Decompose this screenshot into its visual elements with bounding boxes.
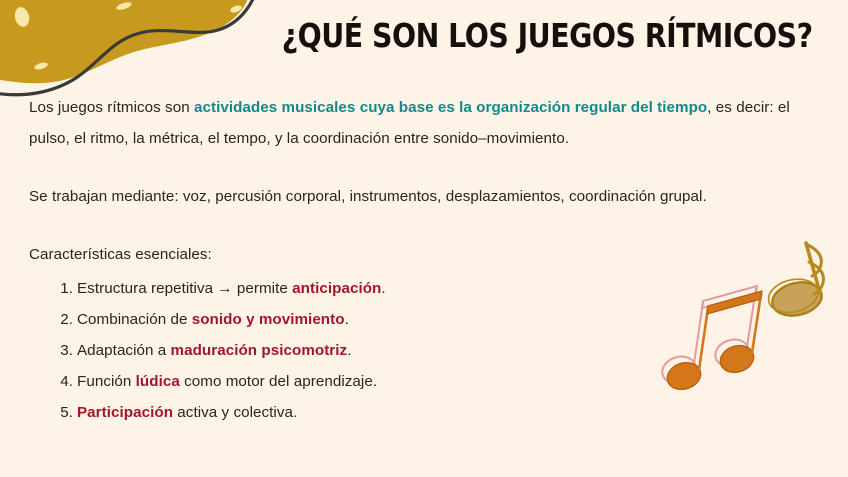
speckle-icon [13,6,31,29]
list-item-highlight: sonido y movimiento [192,311,345,328]
list-item-highlight: maduración psicomotriz [171,342,348,359]
list-item-pre: Combinación de [77,311,192,328]
paragraph-definition-highlight: actividades musicales cuya base es la or… [194,99,707,116]
list-item: Estructura repetitiva → permite anticipa… [29,273,825,304]
speckle-icon [229,4,242,14]
list-item-highlight: Participación [77,404,173,421]
list-item-pre: Estructura repetitiva → permite [77,280,292,297]
speckle-icon [33,61,48,71]
paragraph-definition-lead: Los juegos rítmicos son [29,99,194,116]
speckle-icon [115,1,132,12]
list-item-post: como motor del aprendizaje. [180,373,377,390]
slide-canvas: ¿QUÉ SON LOS JUEGOS RÍTMICOS? Los juegos… [0,0,848,477]
list-item: Función lúdica como motor del aprendizaj… [29,366,825,397]
list-item: Combinación de sonido y movimiento. [29,304,825,335]
list-item-post: activa y colectiva. [173,404,297,421]
title-block: ¿QUÉ SON LOS JUEGOS RÍTMICOS? [240,18,836,54]
list-item: Participación activa y colectiva. [29,397,825,428]
list-heading: Características esenciales: [29,212,825,270]
mustard-blob-shape [0,0,250,83]
list-item-post: . [345,311,349,328]
list-item-pre: Adaptación a [77,342,171,359]
paragraph-definition: Los juegos rítmicos son actividades musi… [29,92,825,154]
page-title: ¿QUÉ SON LOS JUEGOS RÍTMICOS? [282,18,795,54]
body-content: Los juegos rítmicos son actividades musi… [29,92,825,428]
list-item: Adaptación a maduración psicomotriz. [29,335,825,366]
list-item-highlight: lúdica [136,373,180,390]
feature-list: Estructura repetitiva → permite anticipa… [29,273,825,428]
list-item-post: . [347,342,351,359]
paragraph-methods: Se trabajan mediante: voz, percusión cor… [29,181,825,212]
list-item-pre: Función [77,373,136,390]
list-item-post: . [381,280,385,297]
list-item-highlight: anticipación [292,280,381,297]
dark-wavy-line [0,0,256,95]
